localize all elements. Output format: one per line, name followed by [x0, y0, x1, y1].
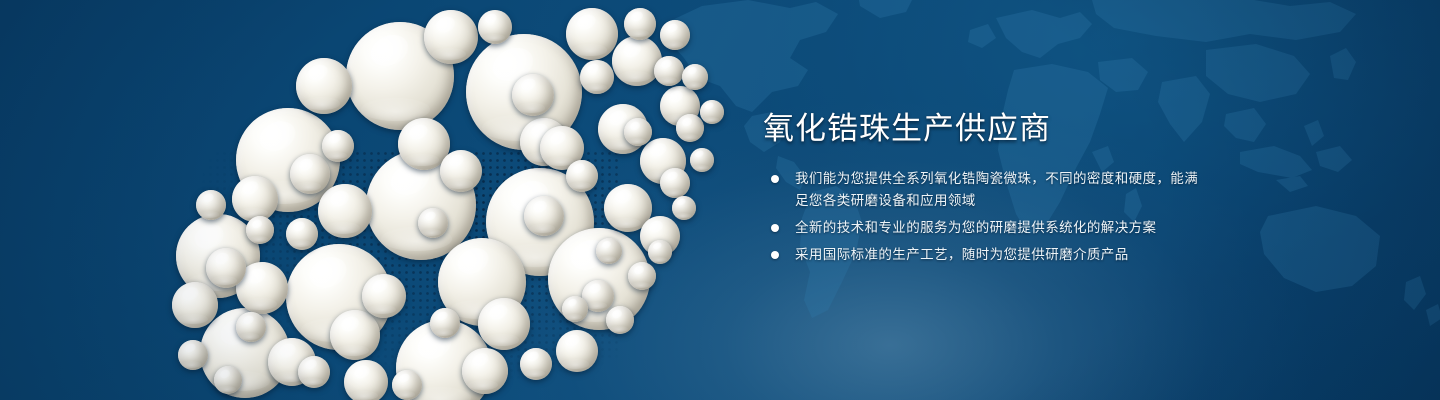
list-item-label: 我们能为您提供全系列氧化锆陶瓷微珠，不同的密度和硬度，能满足您各类研磨设备和应用…: [795, 168, 1211, 212]
list-item: 我们能为您提供全系列氧化锆陶瓷微珠，不同的密度和硬度，能满足您各类研磨设备和应用…: [771, 168, 1211, 212]
list-item-label: 采用国际标准的生产工艺，随时为您提供研磨介质产品: [795, 244, 1211, 266]
banner-headline: 氧化锆珠生产供应商: [763, 112, 1051, 146]
bullet-dot-icon: [771, 175, 779, 183]
hero-banner: 氧化锆珠生产供应商 我们能为您提供全系列氧化锆陶瓷微珠，不同的密度和硬度，能满足…: [0, 0, 1440, 400]
banner-text-content: 氧化锆珠生产供应商 我们能为您提供全系列氧化锆陶瓷微珠，不同的密度和硬度，能满足…: [763, 0, 1323, 400]
bullet-dot-icon: [771, 251, 779, 259]
list-item: 采用国际标准的生产工艺，随时为您提供研磨介质产品: [771, 244, 1211, 266]
list-item-label: 全新的技术和专业的服务为您的研磨提供系统化的解决方案: [795, 217, 1211, 239]
bullet-dot-icon: [771, 224, 779, 232]
list-item: 全新的技术和专业的服务为您的研磨提供系统化的解决方案: [771, 217, 1211, 239]
feature-list: 我们能为您提供全系列氧化锆陶瓷微珠，不同的密度和硬度，能满足您各类研磨设备和应用…: [771, 168, 1211, 271]
